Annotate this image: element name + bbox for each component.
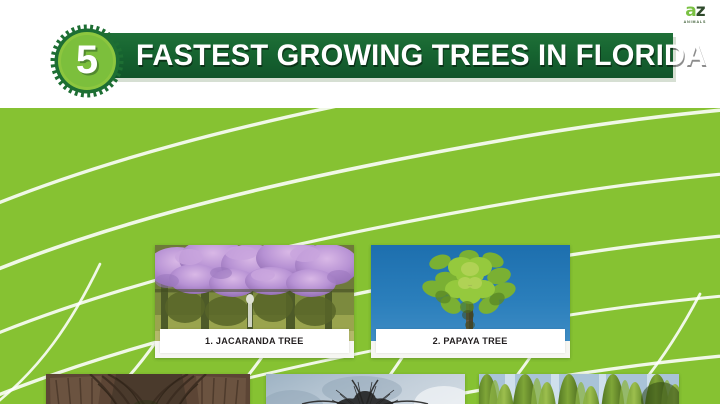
tree-card[interactable]: 1. JACARANDA TREE xyxy=(155,245,354,358)
tree-card[interactable]: 4. CARPENTARIA PALM TREE xyxy=(266,374,465,404)
page-title: FASTEST GROWING TREES IN FLORIDA xyxy=(136,41,706,71)
jacaranda-tree-photo xyxy=(155,245,354,341)
background-swoosh-pattern xyxy=(0,108,720,404)
papaya-tree-photo xyxy=(371,245,570,341)
card-label: 2. PAPAYA TREE xyxy=(376,329,565,353)
card-label-text: 2. PAPAYA TREE xyxy=(433,336,508,347)
tree-card[interactable]: 3. FLORIDA COASTAL REDWOOD xyxy=(46,374,250,404)
logo-subtitle: ANIMALS xyxy=(678,21,712,25)
florida-coastal-redwood-photo xyxy=(46,374,250,404)
card-label-text: 1. JACARANDA TREE xyxy=(205,336,304,347)
logo-letter-a: a xyxy=(685,1,695,21)
title-banner: FASTEST GROWING TREES IN FLORIDA xyxy=(73,33,673,78)
rank-badge: 5 xyxy=(50,24,124,98)
card-label: 1. JACARANDA TREE xyxy=(160,329,349,353)
badge-number: 5 xyxy=(50,24,124,98)
az-animals-logo[interactable]: az ANIMALS xyxy=(678,3,712,29)
tree-card[interactable]: 2. PAPAYA TREE xyxy=(371,245,570,358)
carpentaria-palm-tree-photo xyxy=(266,374,465,404)
logo-wordmark: az xyxy=(678,3,712,20)
tree-card[interactable]: 5. LOMBARDY POPLAR TREE xyxy=(479,374,679,404)
header: az ANIMALS FASTEST GROWING TREES IN FLOR… xyxy=(0,0,720,108)
content-panel: 1. JACARANDA TREE xyxy=(0,108,720,404)
lombardy-poplar-tree-photo xyxy=(479,374,679,404)
infographic-root: az ANIMALS FASTEST GROWING TREES IN FLOR… xyxy=(0,0,720,404)
logo-letter-z: z xyxy=(696,1,705,21)
